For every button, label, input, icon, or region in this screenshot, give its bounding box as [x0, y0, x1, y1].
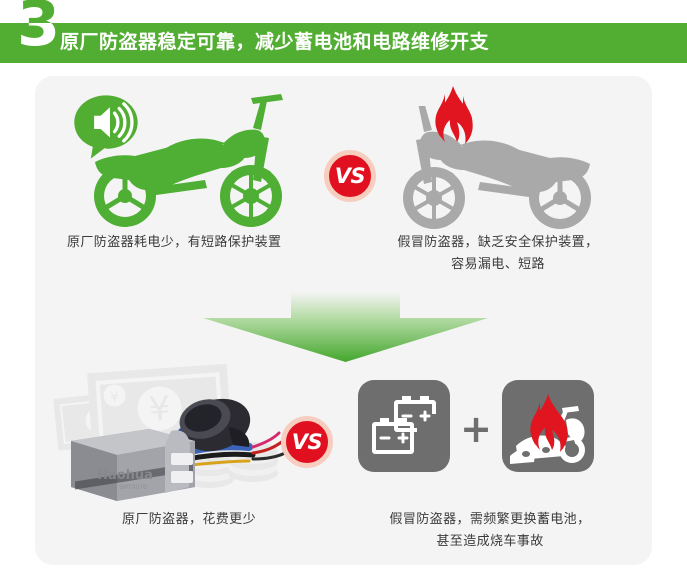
bad-motorcycle-figure	[365, 106, 630, 231]
vs-badge-bottom: VS	[281, 416, 333, 468]
comparison-section-top: VS	[35, 76, 652, 286]
svg-text:¥: ¥	[147, 389, 171, 430]
caption-bad-bottom: 假冒防盗器，需频繁更换蓄电池， 甚至造成烧车事故	[340, 508, 640, 552]
burning-motorcycle-icon	[502, 380, 594, 472]
battery-icon-tile	[358, 380, 450, 472]
sound-bubble-icon	[73, 94, 139, 160]
caption-bad-top-line1: 假冒防盗器，缺乏安全保护装置，	[353, 231, 643, 253]
content-panel: VS	[35, 76, 652, 565]
flame-red-icon	[425, 84, 481, 156]
down-arrow-divider	[203, 292, 488, 362]
page-header: 3 3 原厂防盗器稳定可靠，减少蓄电池和电路维修开支	[0, 0, 687, 75]
consequence-figure: +	[340, 376, 640, 491]
alarm-product-image: ¥ ¥ ¥ ¥	[53, 361, 298, 501]
motorcycle-gray-icon	[365, 106, 630, 231]
good-motorcycle-figure	[55, 84, 320, 229]
caption-bad-top-line2: 容易漏电、短路	[353, 253, 643, 275]
caption-good-top: 原厂防盗器耗电少，有短路保护装置	[49, 231, 339, 253]
svg-text:¥: ¥	[110, 389, 120, 406]
product-model-label: SMT0070	[119, 484, 147, 491]
caption-bad-bottom-line2: 甚至造成烧车事故	[340, 530, 640, 552]
burning-motorcycle-tile	[502, 380, 594, 472]
vs-badge-top: VS	[324, 150, 376, 202]
plus-sign: +	[458, 410, 494, 448]
page-title: 原厂防盗器稳定可靠，减少蓄电池和电路维修开支	[60, 23, 489, 63]
caption-good-bottom: 原厂防盗器，花费更少	[49, 508, 329, 530]
caption-bad-bottom-line1: 假冒防盗器，需频繁更换蓄电池，	[340, 508, 640, 530]
alarm-box: Haohua SMT0070	[71, 429, 195, 501]
product-figure: ¥ ¥ ¥ ¥	[53, 361, 298, 501]
caption-bad-top: 假冒防盗器，缺乏安全保护装置， 容易漏电、短路	[353, 231, 643, 275]
battery-icon	[358, 380, 450, 472]
product-brand-label: Haohua	[97, 468, 153, 483]
